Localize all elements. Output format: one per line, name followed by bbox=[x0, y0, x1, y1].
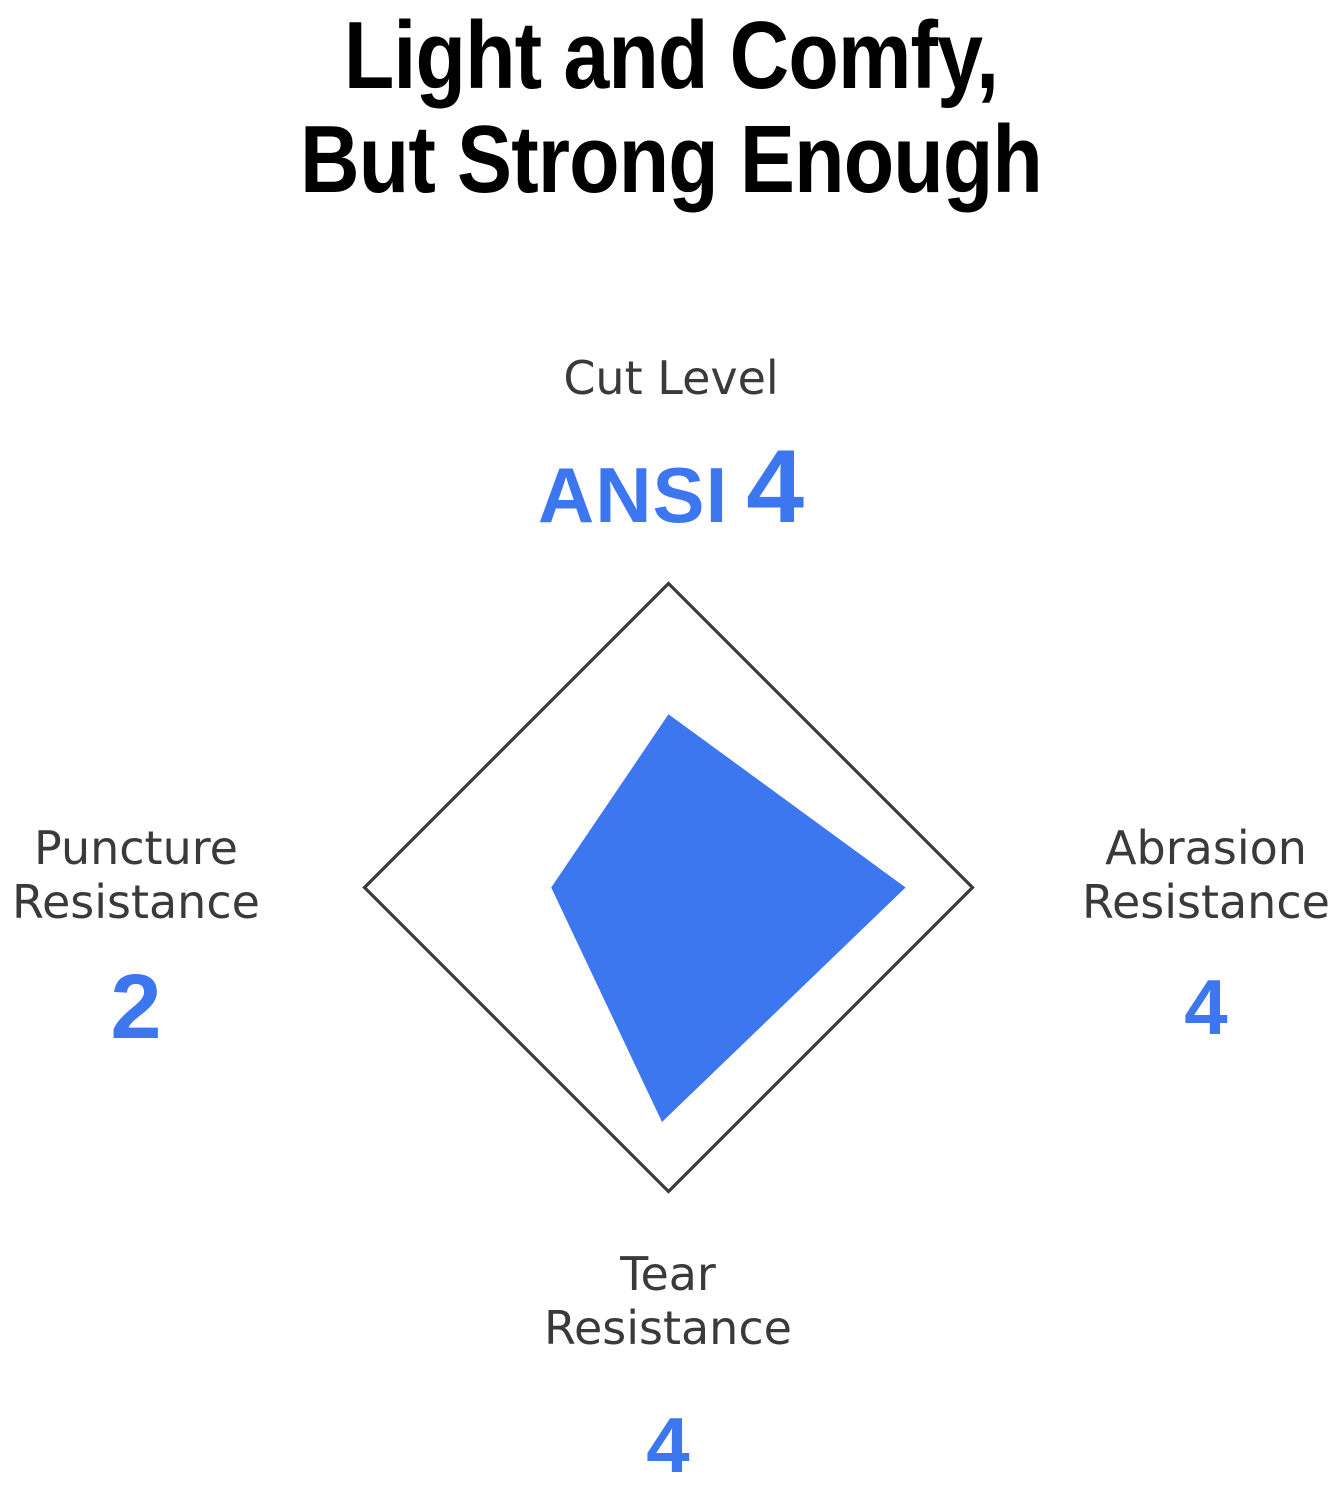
axis-value-abrasion-resistance: 4 bbox=[1056, 962, 1342, 1053]
axis-value-tear-resistance: 4 bbox=[371, 1400, 965, 1491]
axis-label-cut-level: Cut Level bbox=[0, 352, 1342, 406]
axis-value-puncture-resistance: 2 bbox=[0, 955, 286, 1060]
axis-value-cut-level-prefix: ANSI bbox=[538, 451, 728, 539]
axis-label-abrasion-resistance: Abrasion Resistance bbox=[1056, 822, 1342, 930]
radar-chart: Cut Level ANSI4 Puncture Resistance 2 Ab… bbox=[0, 0, 1342, 1500]
axis-label-tear-resistance: Tear Resistance bbox=[371, 1248, 965, 1356]
radar-data-polygon bbox=[551, 714, 905, 1122]
axis-value-cut-level-number: 4 bbox=[746, 429, 804, 545]
axis-value-cut-level: ANSI4 bbox=[0, 428, 1342, 547]
axis-label-puncture-resistance: Puncture Resistance bbox=[0, 822, 286, 930]
